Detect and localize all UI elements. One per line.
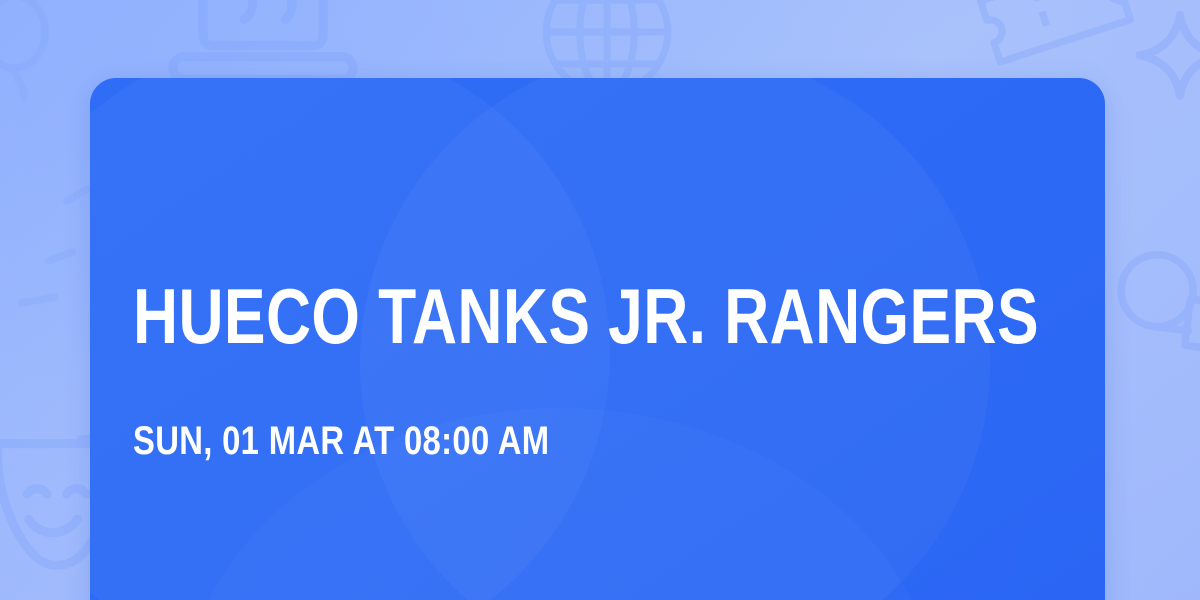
confetti-icon <box>0 168 96 318</box>
sparkle-icon <box>1125 4 1200 114</box>
event-datetime: SUN, 01 MAR AT 08:00 AM <box>133 418 897 464</box>
event-title: HUECO TANKS JR. RANGERS <box>133 274 879 358</box>
balloon-icon <box>0 0 60 110</box>
event-card: HUECO TANKS JR. RANGERS SUN, 01 MAR AT 0… <box>90 78 1105 600</box>
card-content: HUECO TANKS JR. RANGERS SUN, 01 MAR AT 0… <box>133 78 1065 600</box>
event-banner: HUECO TANKS JR. RANGERS SUN, 01 MAR AT 0… <box>0 0 1200 600</box>
